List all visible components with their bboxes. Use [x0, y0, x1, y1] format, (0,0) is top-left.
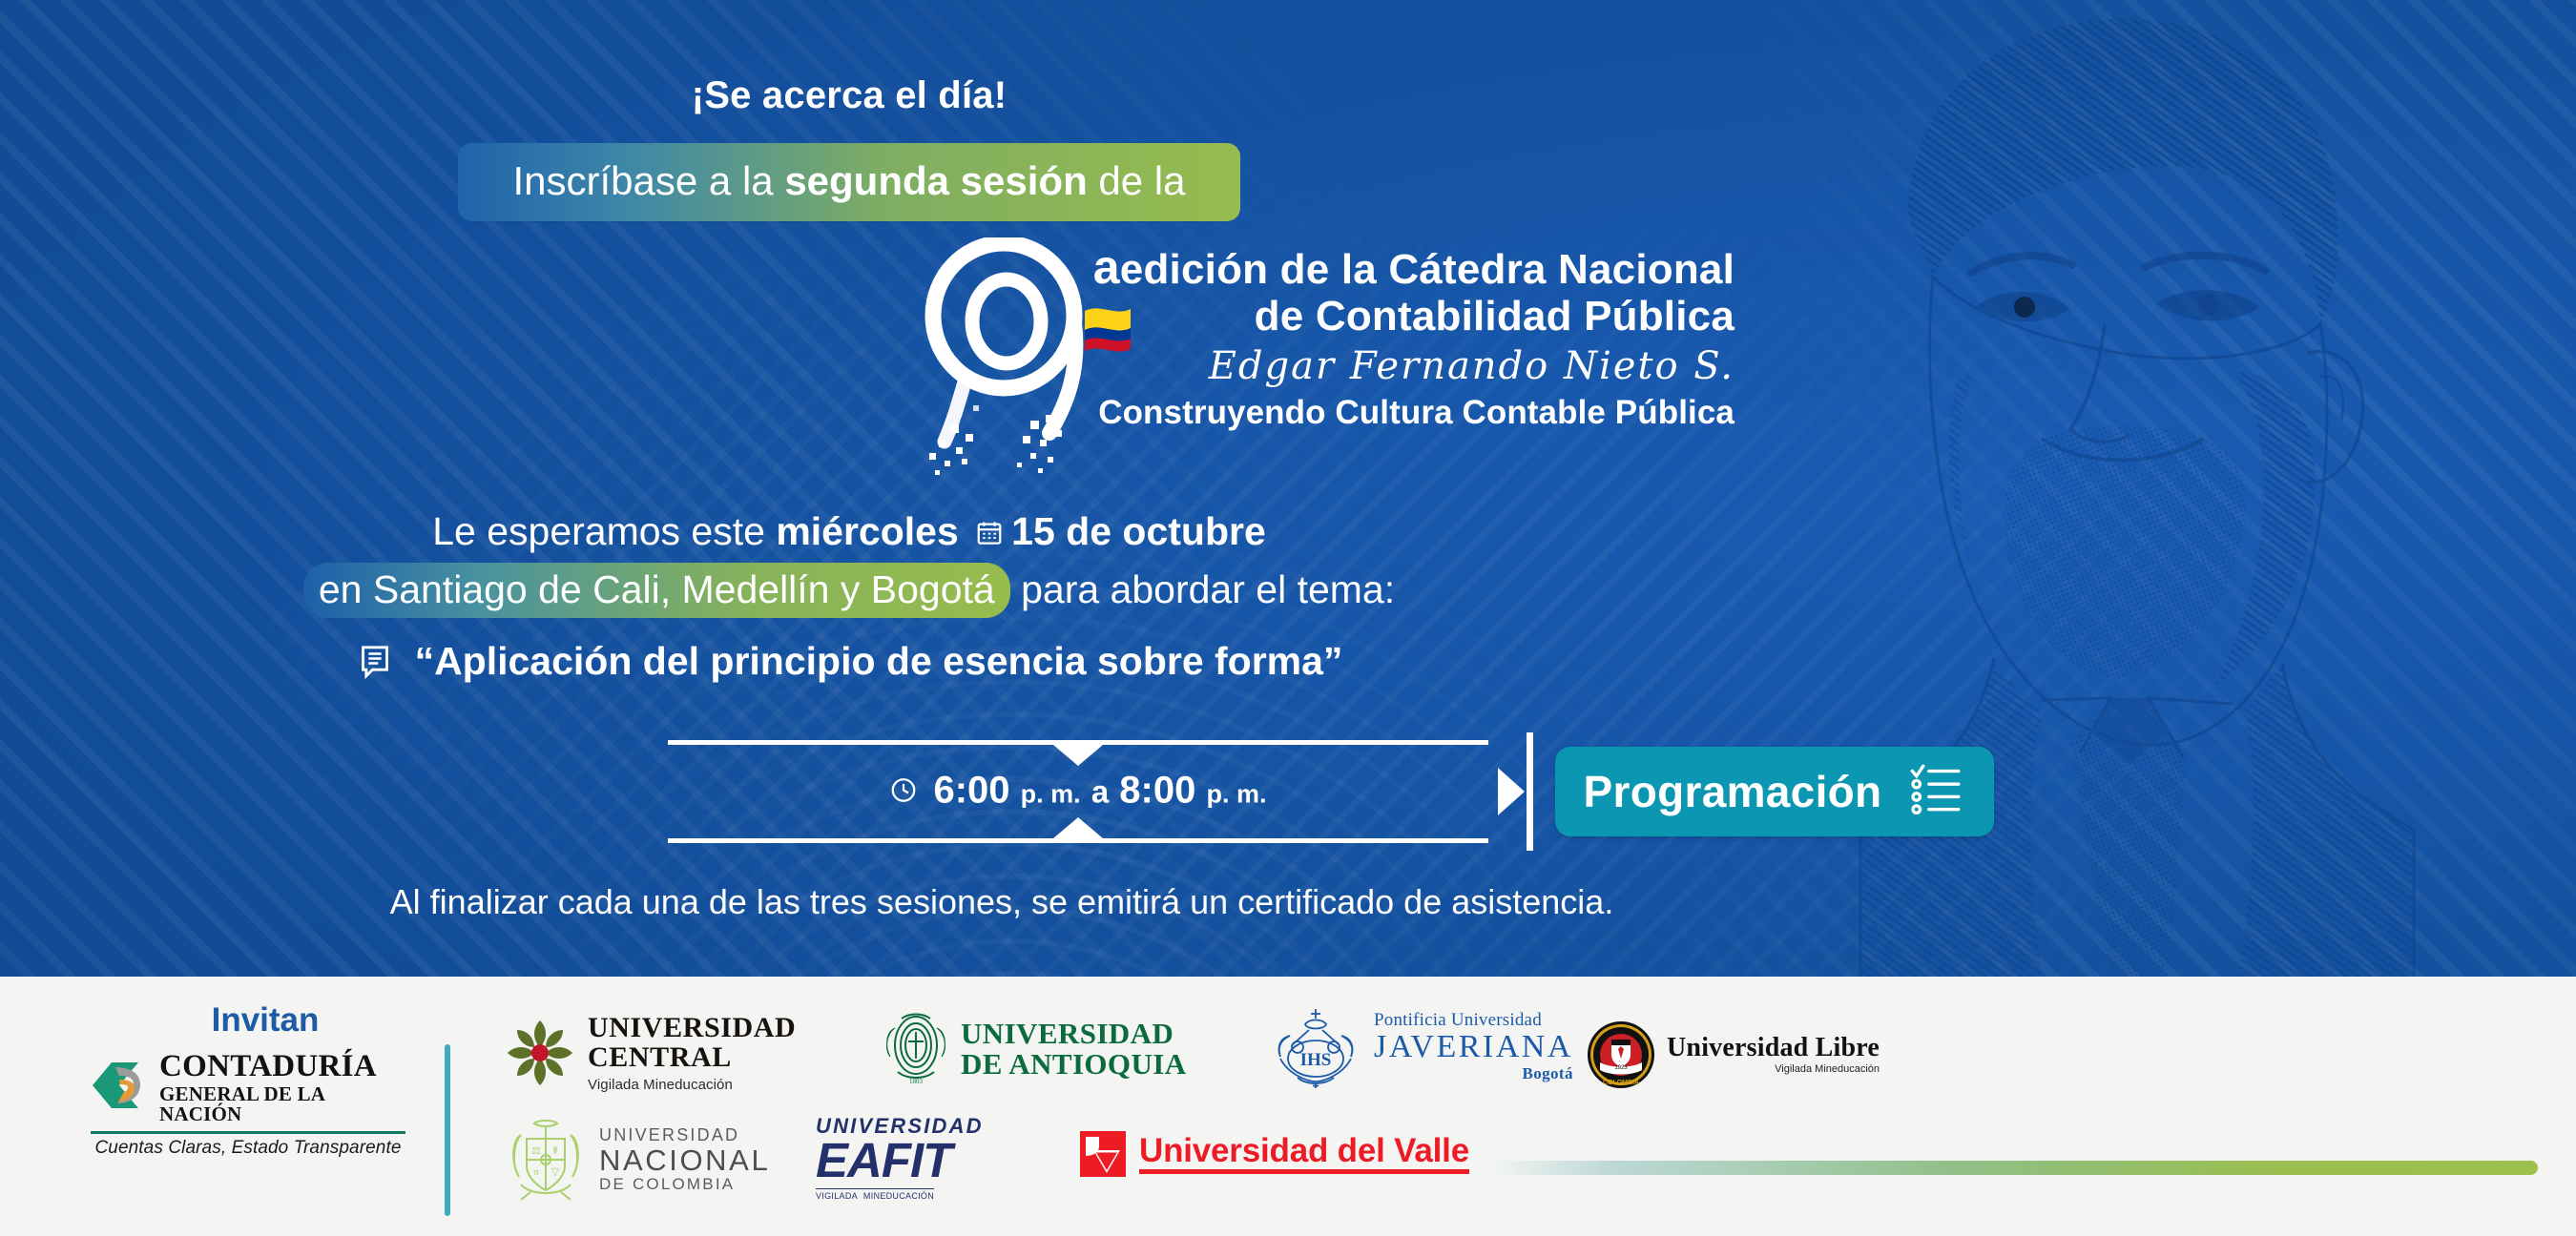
time-connector: a	[1091, 774, 1109, 810]
programacion-button-label: Programación	[1584, 766, 1882, 817]
place-prefix: en	[319, 567, 373, 611]
eafit-sub: VIGILADA MINEDUCACIÓN	[816, 1188, 934, 1201]
event-banner: ¡Se acerca el día! Inscríbase a la segun…	[0, 0, 2576, 1236]
logo-universidad-libre: 1923 COLOMBIA Universidad Libre Vigilada…	[1587, 1020, 1880, 1089]
contaduria-logo: CONTADURÍA GENERAL DE LA NACIÓN Cuentas …	[91, 1051, 405, 1159]
calendar-icon	[975, 511, 1004, 557]
eafit-line2: EAFIT	[816, 1139, 951, 1184]
pill-suffix: de la	[1088, 158, 1186, 203]
javeriana-line2: JAVERIANA	[1374, 1029, 1573, 1064]
hero-kicker: ¡Se acerca el día!	[0, 74, 1698, 117]
svg-text:⚖: ⚖	[531, 1145, 541, 1157]
contaduria-arrow-icon	[91, 1058, 150, 1118]
svg-text:☤: ☤	[551, 1145, 558, 1157]
end-time: 8:00	[1119, 770, 1195, 812]
javeriana-sub: Bogotá	[1374, 1065, 1573, 1081]
place-highlight-wrapper: en Santiago de Cali, Medellín y Bogotá	[303, 563, 1010, 618]
antioquia-line1: UNIVERSIDAD	[961, 1019, 1186, 1049]
central-line2: CENTRAL	[588, 1043, 796, 1073]
chat-document-icon	[356, 642, 394, 690]
ordinal-suffix: a	[1093, 240, 1120, 294]
pill-prefix: Inscríbase a la	[513, 158, 785, 203]
event-logo-tagline: Construyendo Cultura Contable Pública	[1076, 395, 1735, 432]
antioquia-year: 1803	[909, 1078, 924, 1085]
date-day: 15 de octubre	[1011, 509, 1266, 553]
place-cities: Santiago de Cali, Medellín y Bogotá	[373, 567, 995, 611]
colombia-flag-icon	[1083, 303, 1148, 357]
date-weekday: miércoles	[776, 509, 958, 553]
timebox-top-notch	[1053, 745, 1103, 766]
footer-gradient-bar	[1488, 1161, 2538, 1175]
hero-pill-wrapper: Inscríbase a la segunda sesión de la	[0, 143, 1698, 221]
valle-line1: Universidad del Valle	[1139, 1134, 1469, 1168]
svg-text:COLOMBIA: COLOMBIA	[1603, 1080, 1639, 1086]
antioquia-seal-icon: 1803	[883, 1011, 949, 1087]
svg-text:1923: 1923	[1614, 1065, 1628, 1071]
start-meridiem: p. m.	[1021, 780, 1081, 809]
place-line: en Santiago de Cali, Medellín y Bogotá p…	[0, 563, 1698, 618]
theme-text: “Aplicación del principio de esencia sob…	[415, 639, 1343, 683]
nacional-line1: UNIVERSIDAD	[599, 1126, 770, 1143]
pill-strong: segunda sesión	[784, 158, 1087, 203]
javeriana-ihs-text: IHS	[1300, 1050, 1332, 1070]
end-meridiem: p. m.	[1206, 780, 1266, 809]
logo-universidad-central: UNIVERSIDAD CENTRAL Vigilada Mineducació…	[506, 1014, 796, 1092]
event-logo-line1-text: edición de la Cátedra Nacional	[1120, 246, 1735, 293]
svg-text:▽: ▽	[551, 1166, 560, 1178]
place-suffix: para abordar el tema:	[1010, 567, 1395, 611]
javeriana-line1: Pontificia Universidad	[1374, 1011, 1573, 1029]
eafit-sub1: VIGILADA	[816, 1191, 858, 1201]
nacional-crest-icon: ⚖☤ π▽	[506, 1118, 586, 1202]
antioquia-line2: DE ANTIOQUIA	[961, 1049, 1186, 1080]
checklist-icon	[1906, 760, 1965, 824]
valle-underline	[1139, 1169, 1469, 1174]
certificate-footnote: Al finalizar cada una de las tres sesion…	[0, 882, 2004, 922]
central-flower-icon	[506, 1019, 574, 1087]
date-prefix: Le esperamos este	[432, 509, 776, 553]
contaduria-line2: GENERAL DE LA NACIÓN	[159, 1084, 405, 1124]
central-line1: UNIVERSIDAD	[588, 1014, 796, 1043]
event-logo-honoree-name: Edgar Fernando Nieto S.	[1076, 340, 1735, 393]
contaduria-tagline: Cuentas Claras, Estado Transparente	[91, 1138, 405, 1159]
javeriana-ihs-crest-icon: IHS	[1269, 1003, 1362, 1089]
valle-mark-icon	[1080, 1131, 1126, 1177]
footer-divider	[445, 1044, 450, 1216]
date-line: Le esperamos este miércoles 15 de octubr…	[0, 508, 1698, 557]
register-pill[interactable]: Inscríbase a la segunda sesión de la	[458, 143, 1241, 221]
event-logo-text: aedición de la Cátedra Nacional de Conta…	[1076, 243, 1735, 431]
timebox-bottom-rule	[668, 838, 1488, 843]
libre-seal-icon: 1923 COLOMBIA	[1587, 1020, 1655, 1089]
event-logo-line1: aedición de la Cátedra Nacional	[1076, 243, 1735, 293]
separator-bar	[1527, 732, 1533, 851]
timebox-bottom-notch	[1053, 817, 1103, 838]
logo-universidad-nacional: ⚖☤ π▽ UNIVERSIDAD NACIONAL DE COLOMBIA	[506, 1118, 770, 1202]
contaduria-line1: CONTADURÍA	[159, 1051, 405, 1082]
libre-sub: Vigilada Mineducación	[1667, 1064, 1880, 1075]
schedule-time-text: 6:00 p. m. a 8:00 p. m.	[668, 770, 1488, 814]
invitan-label: Invitan	[108, 1001, 423, 1040]
eafit-sub2: MINEDUCACIÓN	[863, 1191, 934, 1201]
logo-universidad-de-antioquia: 1803 UNIVERSIDAD DE ANTIOQUIA	[883, 1011, 1186, 1087]
nacional-line3: DE COLOMBIA	[599, 1176, 770, 1192]
separator-arrow	[1498, 768, 1525, 815]
svg-text:π: π	[533, 1166, 539, 1178]
libre-line1: Universidad Libre	[1667, 1035, 1880, 1062]
theme-line: “Aplicación del principio de esencia sob…	[0, 639, 1698, 690]
schedule-timebox: 6:00 p. m. a 8:00 p. m.	[668, 734, 1488, 849]
event-logo: aedición de la Cátedra Nacional de Conta…	[916, 243, 1736, 472]
programacion-button[interactable]: Programación	[1555, 747, 1994, 836]
clock-icon	[889, 772, 918, 814]
nacional-line2: NACIONAL	[599, 1144, 770, 1176]
event-logo-line2: de Contabilidad Pública	[1076, 293, 1735, 340]
logo-universidad-eafit: UNIVERSIDAD EAFIT VIGILADA MINEDUCACIÓN	[816, 1114, 984, 1201]
contaduria-rule	[91, 1131, 405, 1134]
start-time: 6:00	[933, 770, 1009, 812]
logo-universidad-javeriana: IHS Pontificia Universidad JAVERIANA Bog…	[1269, 1003, 1573, 1089]
logo-universidad-del-valle: Universidad del Valle	[1080, 1131, 1469, 1177]
central-sub: Vigilada Mineducación	[588, 1078, 796, 1092]
